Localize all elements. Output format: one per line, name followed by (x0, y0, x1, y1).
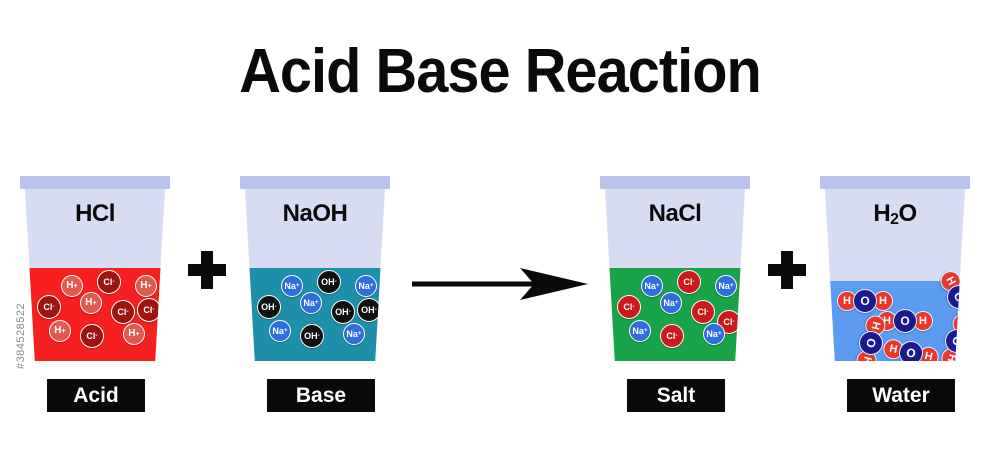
beaker-formula-label: H2O (820, 200, 970, 228)
water-molecule: HOH (935, 267, 982, 328)
beaker-h2o: HOHHOHHOHHOHHOHHOHH2O (820, 176, 970, 361)
ion-cl-anion: Cl- (660, 324, 684, 348)
atom-oxygen: O (893, 309, 917, 333)
caption-base: Base (267, 379, 375, 412)
ion-oh-anion: OH- (317, 270, 341, 294)
ion-cl-anion: Cl- (80, 324, 104, 348)
ion-cl-anion: Cl- (97, 270, 121, 294)
particle-container: H+Cl-H+Cl-H+Cl-Cl-H+Cl-H+ (25, 268, 165, 361)
caption-salt: Salt (627, 379, 725, 412)
ion-na-cation: Na+ (660, 292, 682, 314)
ion-na-cation: Na+ (281, 275, 303, 297)
ion-na-cation: Na+ (300, 292, 322, 314)
ion-cl-anion: Cl- (37, 295, 61, 319)
beaker-lid (20, 176, 170, 189)
beaker-liquid: HOHHOHHOHHOHHOHHOH (825, 281, 965, 361)
ion-na-cation: Na+ (343, 323, 365, 345)
diagram-canvas: #384528522 Acid Base Reaction H+Cl-H+Cl-… (0, 0, 1000, 462)
ion-oh-anion: OH- (357, 298, 381, 322)
ion-na-cation: Na+ (269, 320, 291, 342)
ion-na-cation: Na+ (715, 275, 737, 297)
beaker-lid (240, 176, 390, 189)
ion-na-cation: Na+ (629, 320, 651, 342)
beaker-naoh: Na+OH-Na+OH-Na+OH-OH-Na+OH-Na+NaOH (240, 176, 390, 361)
page-title: Acid Base Reaction (35, 36, 965, 107)
atom-oxygen: O (853, 289, 877, 313)
beaker-lid (820, 176, 970, 189)
ion-h-cation: H+ (80, 292, 102, 314)
ion-cl-anion: Cl- (137, 298, 161, 322)
ion-cl-anion: Cl- (691, 300, 715, 324)
ion-oh-anion: OH- (300, 324, 324, 348)
ion-cl-anion: Cl- (677, 270, 701, 294)
ion-h-cation: H+ (123, 323, 145, 345)
beaker-liquid: Na+OH-Na+OH-Na+OH-OH-Na+OH-Na+ (245, 268, 385, 361)
caption-water: Water (847, 379, 955, 412)
beaker-nacl: Na+Cl-Na+Cl-Na+Cl-Cl-Na+Cl-Na+NaCl (600, 176, 750, 361)
water-molecule: HOH (937, 311, 977, 372)
particle-container: Na+Cl-Na+Cl-Na+Cl-Cl-Na+Cl-Na+ (605, 268, 745, 361)
beaker-liquid: H+Cl-H+Cl-H+Cl-Cl-H+Cl-H+ (25, 268, 165, 361)
ion-na-cation: Na+ (641, 275, 663, 297)
beaker-liquid: Na+Cl-Na+Cl-Na+Cl-Cl-Na+Cl-Na+ (605, 268, 745, 361)
beaker-formula-label: NaOH (240, 200, 390, 228)
particle-container: HOHHOHHOHHOHHOHHOH (825, 281, 965, 361)
water-molecule: HOH (881, 335, 941, 370)
caption-acid: Acid (47, 379, 145, 412)
beaker-lid (600, 176, 750, 189)
ion-cl-anion: Cl- (111, 300, 135, 324)
ion-h-cation: H+ (61, 275, 83, 297)
particle-container: Na+OH-Na+OH-Na+OH-OH-Na+OH-Na+ (245, 268, 385, 361)
plus-operator-1 (188, 251, 226, 289)
ion-h-cation: H+ (49, 320, 71, 342)
reaction-arrow-icon (412, 264, 588, 304)
ion-cl-anion: Cl- (617, 295, 641, 319)
beaker-hcl: H+Cl-H+Cl-H+Cl-Cl-H+Cl-H+HCl (20, 176, 170, 361)
beaker-formula-label: NaCl (600, 200, 750, 228)
plus-operator-2 (768, 251, 806, 289)
ion-h-cation: H+ (135, 275, 157, 297)
ion-na-cation: Na+ (703, 323, 725, 345)
ion-oh-anion: OH- (331, 300, 355, 324)
ion-oh-anion: OH- (257, 295, 281, 319)
beaker-formula-label: HCl (20, 200, 170, 228)
ion-na-cation: Na+ (355, 275, 377, 297)
